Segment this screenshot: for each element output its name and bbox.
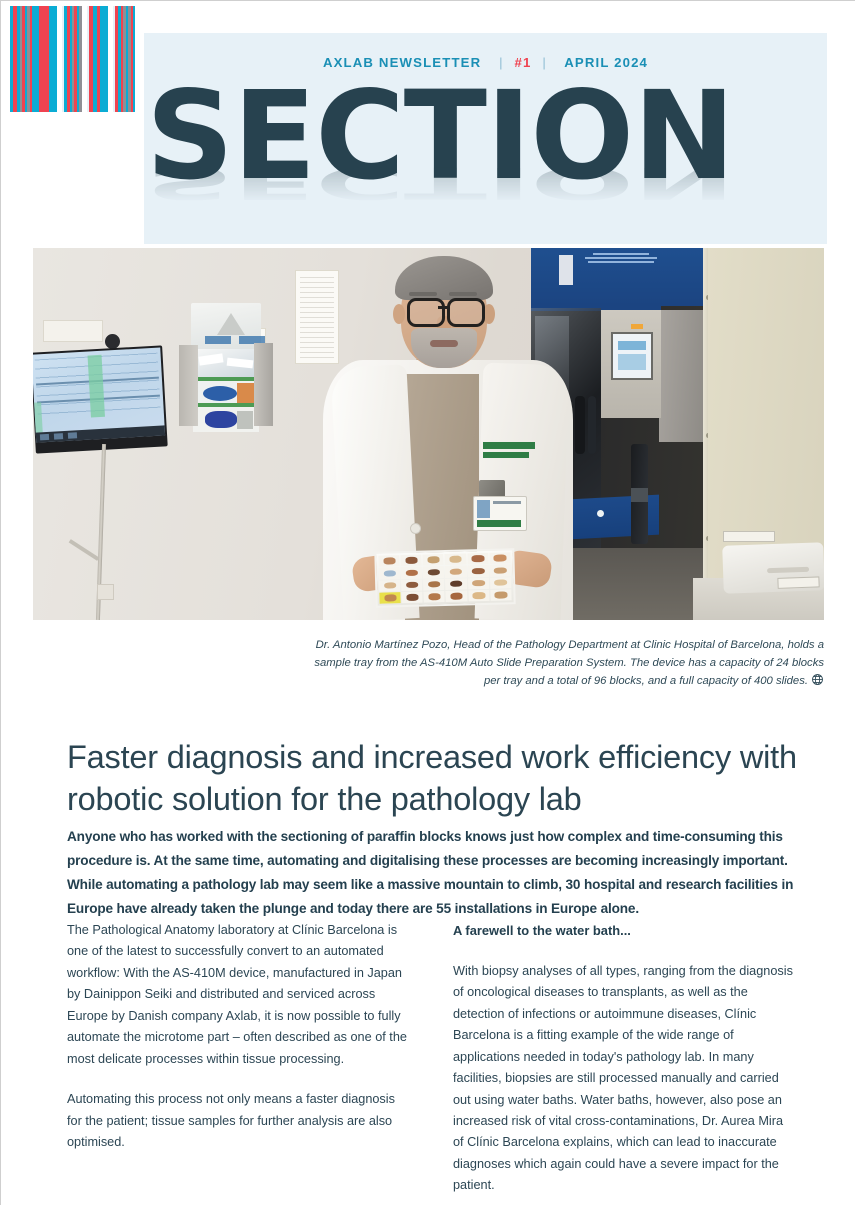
body-column-right: A farewell to the water bath... With bio… [453, 920, 797, 1216]
machine-door-handle-left [575, 396, 585, 454]
masthead: SECTION SECTION [144, 83, 827, 243]
machine-control-panel [601, 310, 661, 418]
tissue-block [379, 567, 400, 579]
publication-name: AXLAB NEWSLETTER [323, 55, 481, 70]
logo-stripe [39, 6, 49, 112]
eyeglasses-right-lens [447, 298, 485, 327]
article-headline: Faster diagnosis and increased work effi… [67, 736, 797, 821]
wall-camera [105, 334, 120, 349]
axlab-barcode-logo [10, 6, 144, 112]
tissue-block [445, 566, 466, 578]
machine-touchscreen [611, 332, 653, 380]
logo-stripe [49, 6, 57, 112]
tissue-block [401, 555, 422, 567]
tissue-sample-tray [374, 548, 515, 608]
tissue-block [490, 589, 511, 601]
tissue-block [402, 591, 423, 603]
tissue-block [379, 592, 400, 604]
issue-number: #1 [515, 55, 532, 70]
dispenser-top-package [191, 303, 261, 349]
cabinet-label [723, 531, 775, 542]
clinic-logo-on-coat [483, 442, 537, 464]
person-figure [323, 256, 573, 620]
globe-icon [811, 673, 824, 693]
masthead-title-reflection: SECTION [146, 161, 734, 205]
tissue-block [401, 567, 422, 579]
newsletter-page: AXLAB NEWSLETTER | #1 | APRIL 2024 SECTI… [0, 0, 855, 1205]
tissue-block [490, 577, 511, 589]
logo-stripe [32, 6, 39, 112]
tissue-block [467, 553, 488, 565]
tissue-block [468, 577, 489, 589]
eyeglasses-left-lens [407, 298, 445, 327]
tissue-block [446, 590, 467, 602]
machine-indicator-dot [597, 510, 604, 517]
id-badge [473, 496, 527, 531]
tissue-block [489, 552, 510, 564]
wall-monitor [33, 345, 168, 453]
machine-nameplate [579, 251, 663, 273]
glove-box-2 [193, 403, 259, 432]
right-paragraph-1: With biopsy analyses of all types, rangi… [453, 961, 797, 1197]
tissue-block [490, 565, 511, 577]
kicker-separator-right: | [536, 55, 553, 70]
pathology-lab-photo [33, 248, 824, 620]
issue-date: APRIL 2024 [564, 55, 648, 70]
body-column-left: The Pathological Anatomy laboratory at C… [67, 920, 411, 1173]
machine-side-panel [659, 310, 703, 442]
article-standfirst: Anyone who has worked with the sectionin… [67, 825, 798, 921]
dispenser-tissue [193, 349, 259, 377]
photo-caption: Dr. Antonio Martínez Pozo, Head of the P… [301, 637, 824, 693]
tissue-block [423, 554, 444, 566]
glove-box-dispenser [179, 303, 273, 426]
tissue-block [401, 579, 422, 591]
photo-caption-text: Dr. Antonio Martínez Pozo, Head of the P… [314, 639, 824, 687]
tissue-block [423, 566, 444, 578]
dispenser-frame-left [179, 345, 198, 426]
right-column-subheading: A farewell to the water bath... [453, 920, 797, 942]
kicker-separator-left: | [493, 55, 510, 70]
tissue-block [468, 590, 489, 602]
machine-status-led [631, 324, 643, 329]
logo-stripe [133, 6, 135, 112]
tissue-block [423, 579, 444, 591]
tray-label [777, 576, 819, 588]
tissue-block [379, 580, 400, 592]
header-kicker: AXLAB NEWSLETTER | #1 | APRIL 2024 [144, 55, 827, 70]
tissue-block [378, 555, 399, 567]
person-ear-left [393, 304, 405, 324]
left-paragraph-1: The Pathological Anatomy laboratory at C… [67, 920, 411, 1070]
tissue-block [467, 565, 488, 577]
tissue-block [424, 591, 445, 603]
wall-outlet [97, 584, 114, 600]
left-paragraph-2: Automating this process not only means a… [67, 1089, 411, 1153]
tissue-block [445, 553, 466, 565]
white-equipment-tray [722, 542, 824, 593]
dispenser-frame-right [254, 343, 273, 426]
wall-plate [43, 320, 103, 342]
tissue-block [445, 578, 466, 590]
